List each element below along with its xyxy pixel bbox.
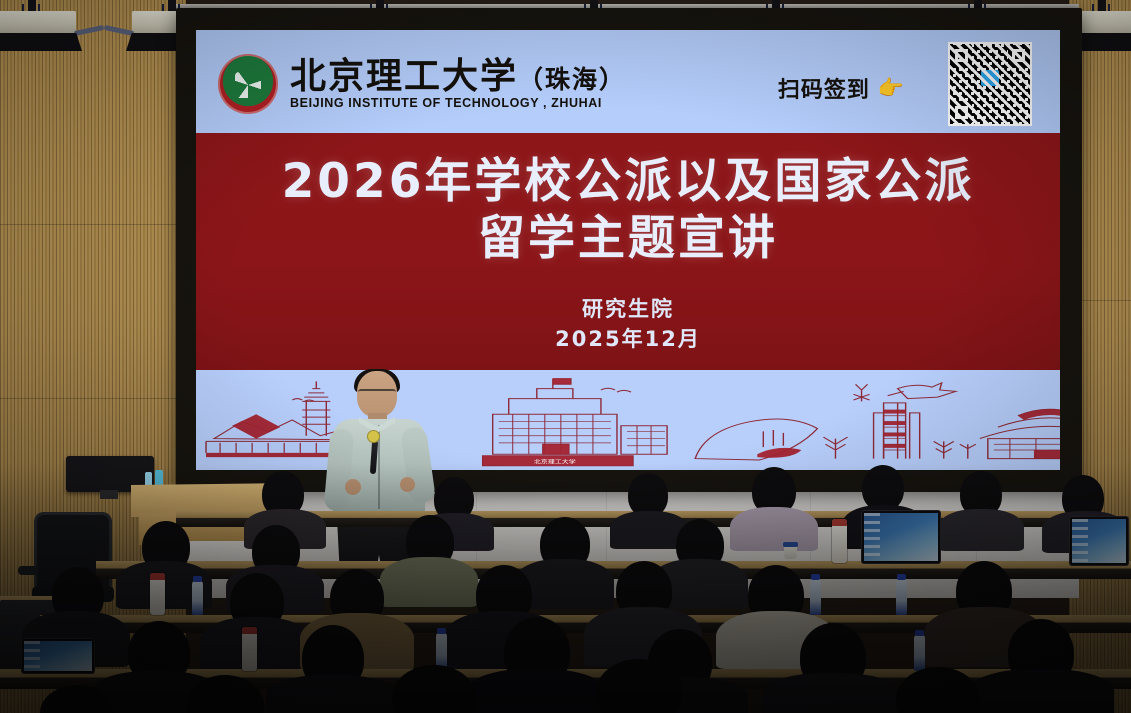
audience-area xyxy=(0,453,1131,713)
slide-subtitle-org: 研究生院 xyxy=(582,294,674,324)
audience-laptop[interactable] xyxy=(1070,517,1128,565)
audience-shoulders xyxy=(466,669,606,713)
water-bottle xyxy=(914,635,925,671)
thermos-flask xyxy=(242,627,257,671)
slide-title-band: 2026年学校公派以及国家公派 留学主题宣讲 研究生院 2025年12月 xyxy=(196,133,1060,370)
signin-label: 扫码签到 xyxy=(778,72,870,104)
slide-title-line-2: 留学主题宣讲 xyxy=(478,210,778,267)
qr-finder-icon xyxy=(1008,45,1029,66)
thermos-flask xyxy=(832,519,847,563)
qr-code[interactable] xyxy=(948,42,1032,126)
slide-header: 北京理工大学（珠海） BEIJING INSTITUTE OF TECHNOLO… xyxy=(196,30,1060,133)
projection-screen-frame: 北京理工大学（珠海） BEIJING INSTITUTE OF TECHNOLO… xyxy=(176,8,1082,492)
audience-shoulders xyxy=(938,509,1024,551)
microphone-head-icon xyxy=(368,431,379,442)
lecture-hall-scene: 北京理工大学（珠海） BEIJING INSTITUTE OF TECHNOLO… xyxy=(0,0,1131,713)
qr-finder-icon xyxy=(951,102,972,123)
stage-light xyxy=(0,0,82,56)
paper-cup xyxy=(784,545,797,559)
qr-finder-icon xyxy=(951,45,972,66)
audience-laptop[interactable] xyxy=(862,511,940,563)
presentation-slide: 北京理工大学（珠海） BEIJING INSTITUTE OF TECHNOLO… xyxy=(196,30,1060,470)
audience-shoulders xyxy=(266,675,398,713)
water-bottle xyxy=(810,579,821,615)
university-name-en: BEIJING INSTITUTE OF TECHNOLOGY , ZHUHAI xyxy=(290,96,626,110)
water-bottle xyxy=(192,581,203,615)
thermos-flask xyxy=(150,573,165,615)
audience-laptop[interactable] xyxy=(22,639,94,673)
signin-prompt: 扫码签到 👉 xyxy=(778,72,904,104)
audience-shoulders xyxy=(968,669,1114,713)
audience-shoulders xyxy=(762,673,902,713)
university-identity: 北京理工大学（珠海） BEIJING INSTITUTE OF TECHNOLO… xyxy=(218,54,626,114)
qr-center-logo-icon xyxy=(981,70,999,86)
university-name-cn: 北京理工大学（珠海） xyxy=(290,58,626,96)
slide-title-line-1: 2026年学校公派以及国家公派 xyxy=(282,153,975,210)
pointing-hand-icon: 👉 xyxy=(878,78,904,99)
glasses-icon xyxy=(358,389,396,397)
slide-subtitle-date: 2025年12月 xyxy=(555,324,701,354)
water-bottle xyxy=(896,579,907,615)
audience-shoulders xyxy=(730,507,818,551)
audience-shoulders xyxy=(380,557,478,607)
university-emblem-icon xyxy=(218,54,278,114)
